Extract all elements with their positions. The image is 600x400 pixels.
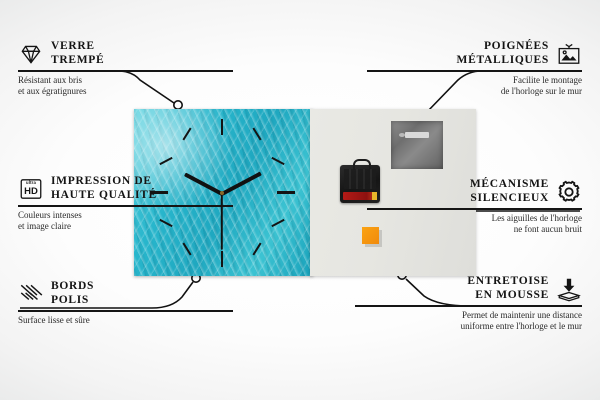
diamond-icon [18,41,44,67]
feature-poignees-metalliques: POIGNÉES MÉTALLIQUES Facilite le montage… [367,40,582,97]
feature-title-line2: TREMPÉ [51,54,104,68]
feature-title-line2: EN MOUSSE [467,289,549,303]
hanger-slot [405,132,429,138]
feature-divider [18,310,233,312]
feature-title-line2: MÉTALLIQUES [457,54,549,68]
feature-title-line2: HAUTE QUALITÉ [51,189,157,203]
feature-subtitle-line1: Résistant aux bris [18,75,233,86]
feature-title-line1: MÉCANISME [470,178,549,192]
connector-dot-verre-trempe [174,101,182,109]
hour-marker-5 [252,243,261,256]
feature-divider [355,305,582,307]
gear-icon [556,179,582,205]
feature-title-line2: POLIS [51,294,94,308]
feature-subtitle-line1: Les aiguilles de l'horloge [367,213,582,224]
hour-marker-1 [252,128,261,141]
hour-marker-7 [182,243,191,256]
feature-subtitle-line1: Surface lisse et sûre [18,315,233,326]
foam-spacer-arrow-icon [556,276,582,302]
hour-marker-4 [271,219,284,227]
feature-divider [18,70,233,72]
feature-subtitle-line1: Permet de maintenir une distance [355,310,582,321]
feature-subtitle-line2: et image claire [18,221,233,232]
feature-subtitle-line2: uniforme entre l'horloge et le mur [355,321,582,332]
metal-hanger-plate [391,121,443,169]
feature-subtitle-line2: ne font aucun bruit [367,224,582,235]
hour-marker-12 [221,119,223,135]
infographic-canvas: VERRE TREMPÉ Résistant aux bris et aux é… [0,0,600,400]
feature-title-line1: BORDS [51,280,94,294]
hour-marker-2 [271,157,284,165]
feature-title-line1: POIGNÉES [457,40,549,54]
ultra-hd-icon: ultra HD [18,176,44,202]
feature-subtitle-line1: Couleurs intenses [18,210,233,221]
feature-subtitle-line2: de l'horloge sur le mur [367,86,582,97]
ultra-hd-icon-large-text: HD [18,186,44,197]
polished-edges-icon [18,281,44,307]
feature-subtitle-line2: et aux égratignures [18,86,233,97]
feature-title-line2: SILENCIEUX [470,192,549,206]
ultra-hd-icon-small-text: ultra [18,180,44,185]
hour-marker-6 [221,251,223,267]
hour-marker-3 [277,191,295,194]
feature-title-line1: VERRE [51,40,104,54]
feature-bords-polis: BORDS POLIS Surface lisse et sûre [18,280,233,326]
feature-title-line1: IMPRESSION DE [51,175,157,189]
feature-title-line1: ENTRETOISE [467,275,549,289]
feature-mecanisme-silencieux: MÉCANISME SILENCIEUX Les aiguilles de l'… [367,178,582,235]
feature-divider [367,70,582,72]
feature-entretoise-en-mousse: ENTRETOISE EN MOUSSE Permet de maintenir… [355,275,582,332]
feature-divider [367,208,582,210]
hour-marker-10 [159,157,172,165]
hour-marker-11 [182,128,191,141]
feature-subtitle-line1: Facilite le montage [367,75,582,86]
feature-impression-haute-qualite: ultra HD IMPRESSION DE HAUTE QUALITÉ Cou… [18,175,233,232]
feature-divider [18,205,233,207]
picture-hanger-icon [556,41,582,67]
feature-verre-trempe: VERRE TREMPÉ Résistant aux bris et aux é… [18,40,233,97]
